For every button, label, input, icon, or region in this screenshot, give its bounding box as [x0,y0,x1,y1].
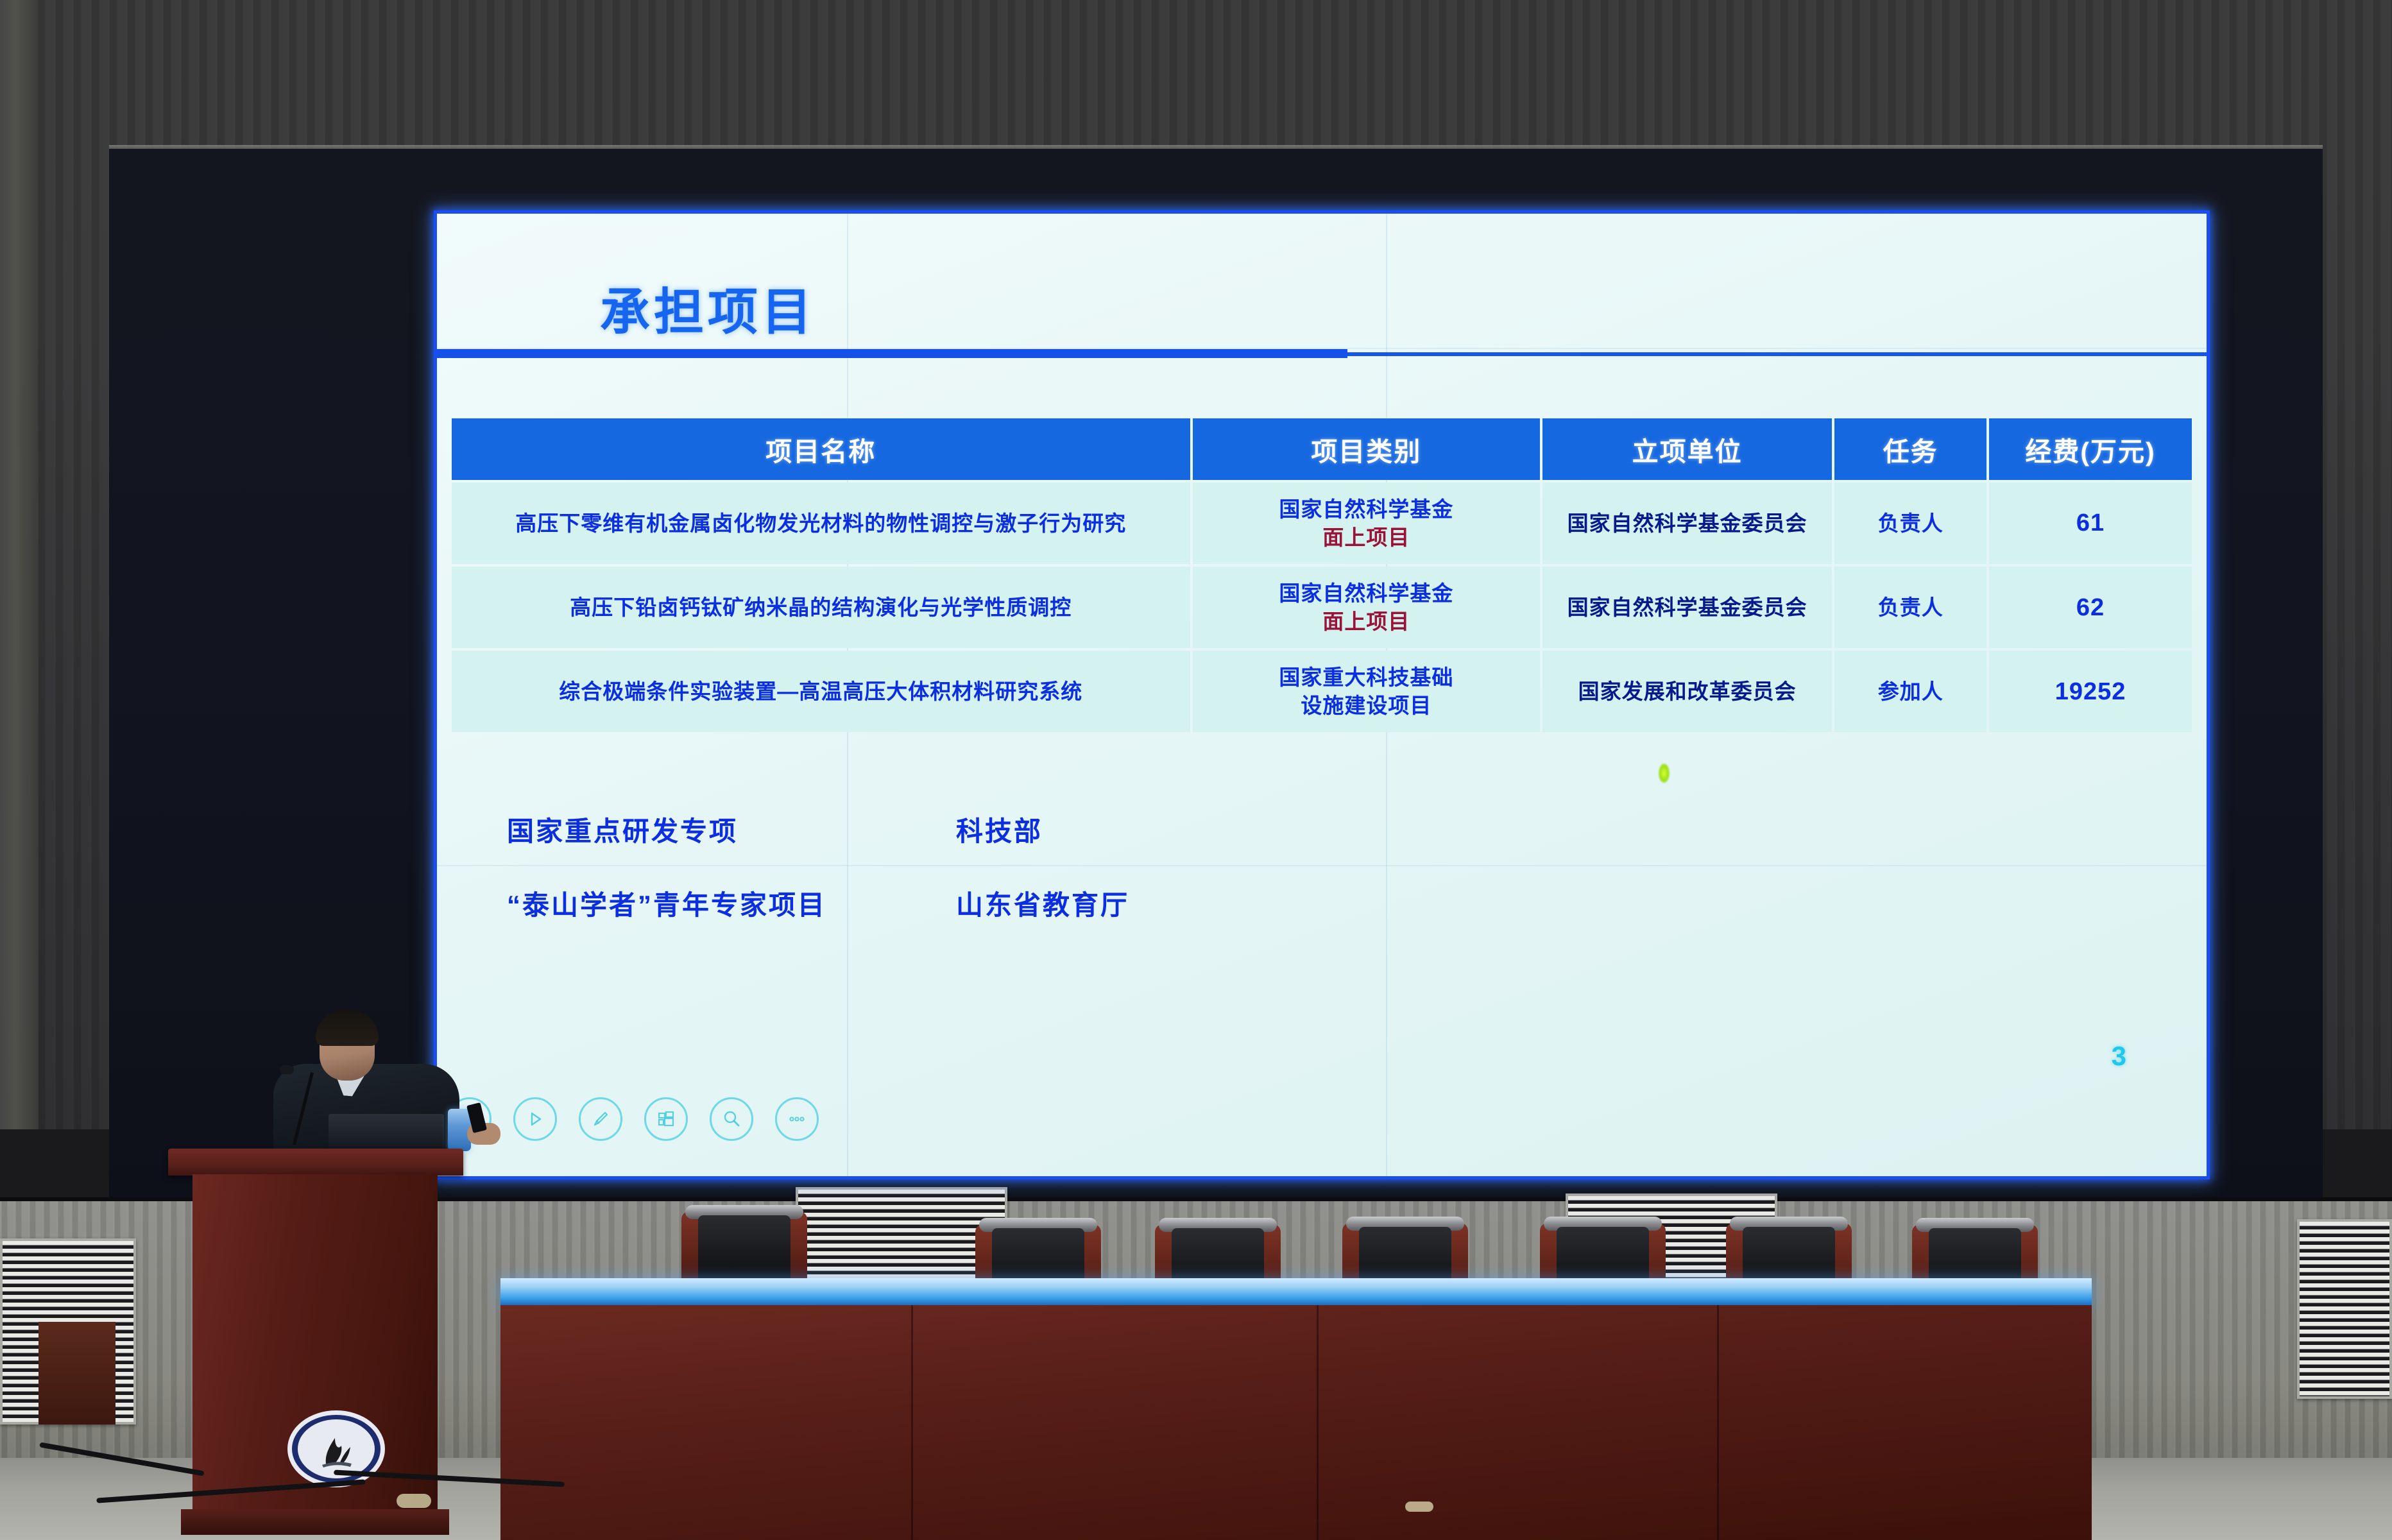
cell-funding-amount: 19252 [1989,651,2192,732]
cell-project-category: 国家自然科学基金 面上项目 [1193,567,1540,648]
table-row: 综合极端条件实验装置—高温高压大体积材料研究系统 国家重大科技基础 设施建设项目… [452,651,2192,732]
table-segment-divider [911,1305,913,1540]
wall-vent-grille [2297,1219,2392,1399]
chair-backrest [698,1215,790,1287]
funding-amount-text: 19252 [2055,678,2126,705]
conference-table-front [500,1305,2092,1540]
side-stool [38,1322,115,1425]
microphone-head [280,1065,294,1074]
funding-org-text: 国家发展和改革委员会 [1578,680,1797,703]
project-name-text: 高压下铅卤钙钛矿纳米晶的结构演化与光学性质调控 [570,595,1072,619]
funding-amount-text: 62 [2076,594,2105,621]
cell-funding-org: 国家发展和改革委员会 [1542,651,1832,732]
slide-canvas: 承担项目 项目名称 项目类别 立项单位 任务 经费(万元) [436,213,2207,1177]
additional-project-agency: 科技部 [956,810,1043,849]
cell-funding-amount: 61 [1989,483,2192,564]
podium-top-surface [168,1149,463,1176]
table-row: 高压下铅卤钙钛矿纳米晶的结构演化与光学性质调控 国家自然科学基金 面上项目 国家… [452,567,2192,648]
laptop [329,1114,444,1150]
additional-project-agency: 山东省教育厅 [956,884,1129,923]
project-name-text: 高压下零维有机金属卤化物发光材料的物性调控与激子行为研究 [515,511,1126,535]
podium-body [192,1174,438,1514]
category-main-text: 国家自然科学基金 [1199,495,1533,524]
cell-role: 负责人 [1834,567,1986,648]
cell-role: 负责人 [1834,483,1986,564]
project-name-text: 综合极端条件实验装置—高温高压大体积材料研究系统 [559,680,1082,703]
title-rule-thick [436,349,1347,358]
slide-grid-icon[interactable] [644,1097,688,1141]
list-item: 国家重点研发专项 科技部 [436,810,2207,849]
list-item: “泰山学者”青年专家项目 山东省教育厅 [436,884,2207,923]
funding-org-text: 国家自然科学基金委员会 [1568,511,1807,535]
cell-project-name: 综合极端条件实验装置—高温高压大体积材料研究系统 [452,651,1190,732]
column-header-role: 任务 [1834,418,1986,480]
cell-project-name: 高压下零维有机金属卤化物发光材料的物性调控与激子行为研究 [452,483,1190,564]
emblem-flame-mark [313,1432,359,1469]
speaker-hair [316,1010,379,1046]
role-text: 参加人 [1878,680,1943,703]
table-segment-divider [1717,1305,1719,1540]
magnifier-icon[interactable] [710,1097,753,1141]
cell-role: 参加人 [1834,651,1986,732]
slide-page-number: 3 [2112,1041,2126,1072]
laser-pointer-dot [1659,764,1670,783]
floor-tape-mark [1405,1502,1433,1512]
speaker-person [264,1014,476,1158]
table-row: 高压下零维有机金属卤化物发光材料的物性调控与激子行为研究 国家自然科学基金 面上… [452,483,2192,564]
podium-area [168,1020,476,1540]
left-pillar [0,0,38,1129]
column-header-project-name: 项目名称 [452,418,1190,480]
funding-org-text: 国家自然科学基金委员会 [1568,595,1807,619]
table-segment-divider [1317,1305,1319,1540]
cell-project-category: 国家重大科技基础 设施建设项目 [1193,651,1540,732]
role-text: 负责人 [1878,511,1943,535]
cell-project-name: 高压下铅卤钙钛矿纳米晶的结构演化与光学性质调控 [452,567,1190,648]
column-header-funding-amount: 经费(万元) [1989,418,2192,480]
column-header-project-category: 项目类别 [1193,418,1540,480]
conference-table [500,1278,2092,1540]
cell-project-category: 国家自然科学基金 面上项目 [1193,483,1540,564]
category-main-text: 国家自然科学基金 [1199,579,1533,608]
pen-icon[interactable] [579,1097,622,1141]
additional-projects-list: 国家重点研发专项 科技部 “泰山学者”青年专家项目 山东省教育厅 [436,810,2207,957]
projects-table: 项目名称 项目类别 立项单位 任务 经费(万元) 高压下零维有机金属卤化物发光材… [449,416,2194,735]
category-sub-text: 面上项目 [1199,608,1533,636]
projection-screen: 承担项目 项目名称 项目类别 立项单位 任务 经费(万元) [436,213,2207,1177]
floor-tape-mark [397,1494,431,1508]
additional-project-name: 国家重点研发专项 [507,810,956,849]
next-slide-icon[interactable] [513,1097,557,1141]
slide-title: 承担项目 [600,272,816,344]
column-header-funding-org: 立项单位 [1542,418,1832,480]
chair [681,1205,807,1290]
funding-amount-text: 61 [2076,509,2105,536]
category-main-text: 国家重大科技基础 [1199,663,1533,692]
category-sub-text: 设施建设项目 [1199,692,1533,720]
more-options-icon[interactable] [775,1097,819,1141]
title-rule-thin [1347,352,2207,356]
chair-armrest-right [788,1211,807,1288]
podium-base [181,1509,449,1535]
cell-funding-org: 国家自然科学基金委员会 [1542,567,1832,648]
role-text: 负责人 [1878,595,1943,619]
cell-funding-amount: 62 [1989,567,2192,648]
additional-project-name: “泰山学者”青年专家项目 [507,884,956,923]
ppt-playback-toolbar[interactable] [448,1097,819,1141]
category-sub-text: 面上项目 [1199,524,1533,552]
table-header-row: 项目名称 项目类别 立项单位 任务 经费(万元) [452,418,2192,480]
conference-table-top [500,1278,2092,1306]
cell-funding-org: 国家自然科学基金委员会 [1542,483,1832,564]
